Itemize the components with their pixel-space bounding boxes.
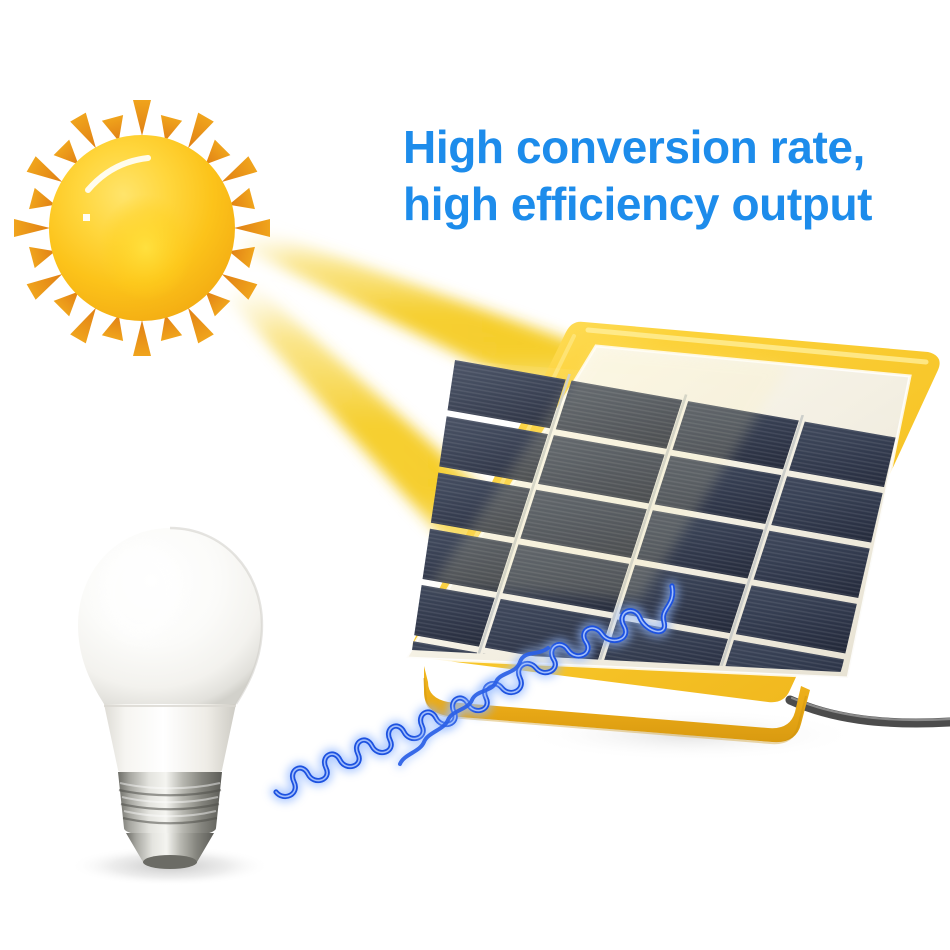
- sun-sparkle-dot: [83, 214, 90, 221]
- sun-inner-glow: [96, 184, 200, 300]
- bulb-neck: [104, 704, 236, 776]
- page-title: High conversion rate, high efficiency ou…: [403, 62, 948, 290]
- light-bulb[interactable]: [70, 528, 270, 886]
- headline-line-1: High conversion rate,: [403, 121, 865, 173]
- headline-line-2: high efficiency output: [403, 176, 948, 233]
- bulb-globe-highlight: [100, 544, 180, 640]
- illustration-canvas: High conversion rate, high efficiency ou…: [0, 0, 950, 950]
- sun: [14, 100, 270, 356]
